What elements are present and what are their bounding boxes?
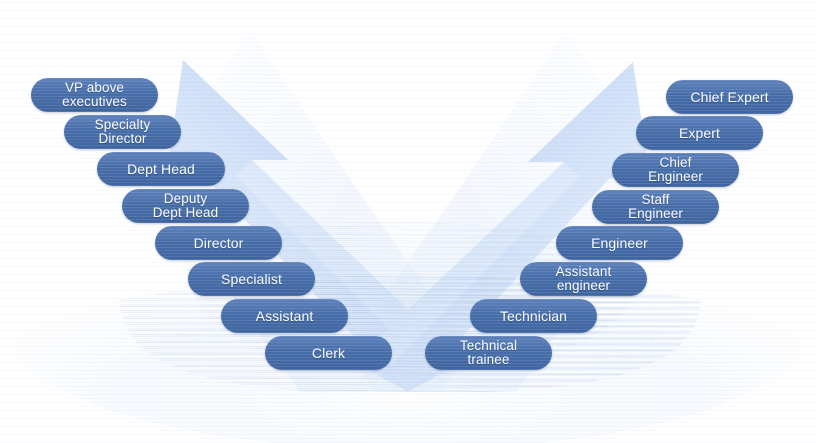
level-pill-label: Technical trainee <box>460 339 517 367</box>
level-pill-label: Expert <box>679 126 720 141</box>
level-pill-label: Assistant <box>256 309 314 324</box>
level-pill-label: Chief Engineer <box>648 156 703 184</box>
level-pill-technical-track-3[interactable]: Chief Engineer <box>612 153 739 187</box>
level-pill-label: VP above executives <box>62 81 127 109</box>
level-pill-management-track-1[interactable]: VP above executives <box>31 78 158 112</box>
level-pill-management-track-3[interactable]: Dept Head <box>97 152 225 186</box>
level-pill-technical-track-6[interactable]: Assistant engineer <box>520 262 647 296</box>
level-pill-management-track-5[interactable]: Director <box>155 226 282 260</box>
level-pill-label: Dept Head <box>127 162 195 177</box>
level-pill-technical-track-7[interactable]: Technician <box>470 299 597 333</box>
level-pill-label: Engineer <box>591 236 648 251</box>
level-pill-technical-track-2[interactable]: Expert <box>636 116 763 150</box>
level-pill-technical-track-4[interactable]: Staff Engineer <box>592 190 719 224</box>
level-pill-label: Assistant engineer <box>556 265 612 293</box>
level-pill-label: Clerk <box>312 346 345 361</box>
level-pill-technical-track-1[interactable]: Chief Expert <box>666 80 793 114</box>
level-pill-label: Specialty Director <box>95 118 151 146</box>
level-pill-label: Staff Engineer <box>628 193 683 221</box>
level-pill-management-track-4[interactable]: Deputy Dept Head <box>122 189 249 223</box>
level-pill-label: Specialist <box>221 272 282 287</box>
level-pill-technical-track-5[interactable]: Engineer <box>556 226 683 260</box>
level-pill-label: Director <box>194 236 244 251</box>
level-pill-technical-track-8[interactable]: Technical trainee <box>425 336 552 370</box>
dual-career-ladder-diagram: VP above executivesSpecialty DirectorDep… <box>0 0 816 443</box>
level-pill-label: Chief Expert <box>690 90 768 105</box>
level-pill-label: Deputy Dept Head <box>153 192 218 220</box>
level-pill-management-track-7[interactable]: Assistant <box>221 299 348 333</box>
level-pill-management-track-6[interactable]: Specialist <box>188 262 315 296</box>
level-pill-management-track-2[interactable]: Specialty Director <box>64 115 181 149</box>
level-pill-label: Technician <box>500 309 567 324</box>
level-pill-management-track-8[interactable]: Clerk <box>265 336 392 370</box>
